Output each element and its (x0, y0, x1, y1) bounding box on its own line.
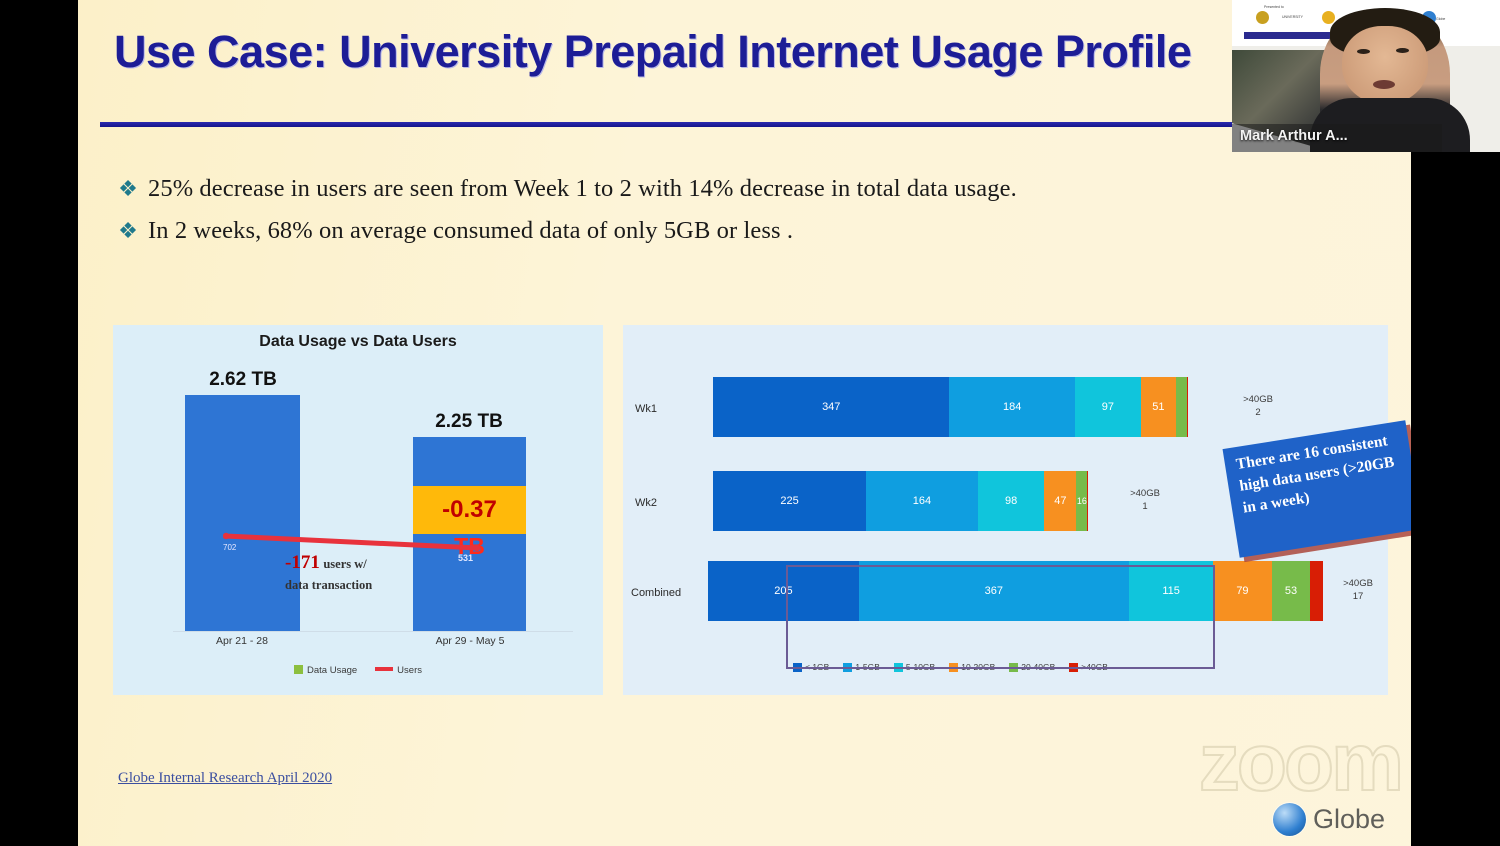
bar-segment (1310, 561, 1323, 621)
bar-segment: 347 (713, 377, 949, 437)
selection-rectangle[interactable] (786, 565, 1215, 669)
bar-segment-label: 53 (1285, 585, 1297, 597)
legend-label: Users (397, 665, 422, 676)
overflow-annotation-wk1: >40GB 2 (1223, 393, 1293, 419)
title-underline (100, 122, 1295, 127)
bar-segment-label: 47 (1054, 495, 1066, 507)
globe-icon (1273, 803, 1306, 836)
bar-segment (1187, 377, 1188, 437)
overflow-annotation-wk2: >40GB 1 (1110, 487, 1180, 513)
users-delta-annotation: -171 users w/ data transaction (285, 553, 445, 596)
users-point-label-2: 531 (458, 553, 473, 563)
participant-name-label: Mark Arthur A... (1240, 128, 1348, 144)
bullet-item: ❖ 25% decrease in users are seen from We… (108, 172, 1338, 206)
bar-segment: 51 (1141, 377, 1176, 437)
row-label-wk1: Wk1 (635, 403, 705, 415)
bullet-text: In 2 weeks, 68% on average consumed data… (148, 214, 793, 248)
bar-segment-label: 184 (1003, 401, 1021, 413)
left-chart-title: Data Usage vs Data Users (113, 333, 603, 351)
bar-segment-label: 51 (1152, 401, 1164, 413)
source-footnote[interactable]: Globe Internal Research April 2020 (118, 770, 332, 787)
bullet-text: 25% decrease in users are seen from Week… (148, 172, 1017, 206)
bar-segment-label: 164 (913, 495, 931, 507)
legend-label: Data Usage (307, 665, 357, 676)
overflow-value: 2 (1223, 406, 1293, 419)
bullet-list: ❖ 25% decrease in users are seen from We… (108, 172, 1338, 256)
bar-value-label-2: 2.25 TB (389, 411, 549, 433)
legend-item-data-usage: Data Usage (294, 665, 357, 676)
category-label-1: Apr 21 - 28 (162, 635, 322, 647)
legend-swatch-icon (294, 665, 303, 674)
participant-eye-right (1396, 48, 1409, 53)
overflow-value: 1 (1110, 500, 1180, 513)
globe-logo: Globe (1273, 803, 1385, 836)
delta-value-badge: -0.37 (413, 486, 526, 534)
legend-line-icon (375, 667, 393, 671)
zoom-watermark: zoom (1199, 716, 1401, 810)
bar-segment-label: 97 (1102, 401, 1114, 413)
users-delta-number: -171 (285, 552, 320, 573)
slide-title: Use Case: University Prepaid Internet Us… (114, 26, 1374, 78)
users-trend-line (223, 528, 480, 552)
bar-segment-label: 79 (1236, 585, 1248, 597)
bar-segment: 164 (866, 471, 978, 531)
bar-segment-label: 225 (780, 495, 798, 507)
participant-mouth (1373, 80, 1395, 89)
overflow-label: >40GB (1328, 577, 1388, 590)
bar-segment: 16 (1076, 471, 1087, 531)
diamond-bullet-icon: ❖ (108, 214, 148, 248)
webcam-tile[interactable]: Presented to UNIVERSITY Globe Mark Arthu… (1232, 0, 1500, 152)
presentation-slide: Use Case: University Prepaid Internet Us… (78, 0, 1411, 846)
stacked-bar-wk2: 225164984716 (713, 471, 1088, 531)
bar-segment-label: 347 (822, 401, 840, 413)
overflow-label: >40GB (1110, 487, 1180, 500)
stacked-bar-wk1: 3471849751 (713, 377, 1188, 437)
participant-face (1342, 26, 1428, 104)
participant-eye-left (1357, 49, 1370, 54)
bullet-item: ❖ In 2 weeks, 68% on average consumed da… (108, 214, 1338, 248)
left-chart-panel: Data Usage vs Data Users 2.62 TB 2.25 TB… (113, 325, 603, 695)
bar-segment: 98 (978, 471, 1045, 531)
users-delta-text-1: users w/ (323, 557, 366, 571)
bar-value-label-1: 2.62 TB (163, 369, 323, 391)
bar-segment (1087, 471, 1088, 531)
overflow-value: 17 (1328, 590, 1388, 603)
bar-segment: 79 (1213, 561, 1271, 621)
screen-share-view: Use Case: University Prepaid Internet Us… (0, 0, 1500, 846)
background-slide-band (1244, 32, 1334, 39)
row-label-wk2: Wk2 (635, 497, 705, 509)
bar-segment-label: 16 (1077, 496, 1087, 506)
bar-segment: 225 (713, 471, 866, 531)
users-delta-text-2: data transaction (285, 578, 372, 592)
usage-bar-week1 (185, 395, 300, 631)
overflow-annotation-combined: >40GB 17 (1328, 577, 1388, 603)
bar-segment: 184 (949, 377, 1074, 437)
bar-segment: 53 (1272, 561, 1311, 621)
legend-item-users: Users (375, 665, 422, 676)
bar-segment: 97 (1075, 377, 1141, 437)
category-label-2: Apr 29 - May 5 (390, 635, 550, 647)
globe-logo-text: Globe (1313, 804, 1385, 835)
overflow-label: >40GB (1223, 393, 1293, 406)
users-point-label-1: 702 (223, 543, 236, 552)
bar-segment: 47 (1044, 471, 1076, 531)
diamond-bullet-icon: ❖ (108, 172, 148, 206)
row-label-combined: Combined (631, 587, 701, 599)
bar-segment (1176, 377, 1187, 437)
left-chart-axis (173, 631, 573, 632)
bar-segment-label: 98 (1005, 495, 1017, 507)
left-chart-legend: Data Usage Users (113, 665, 603, 676)
